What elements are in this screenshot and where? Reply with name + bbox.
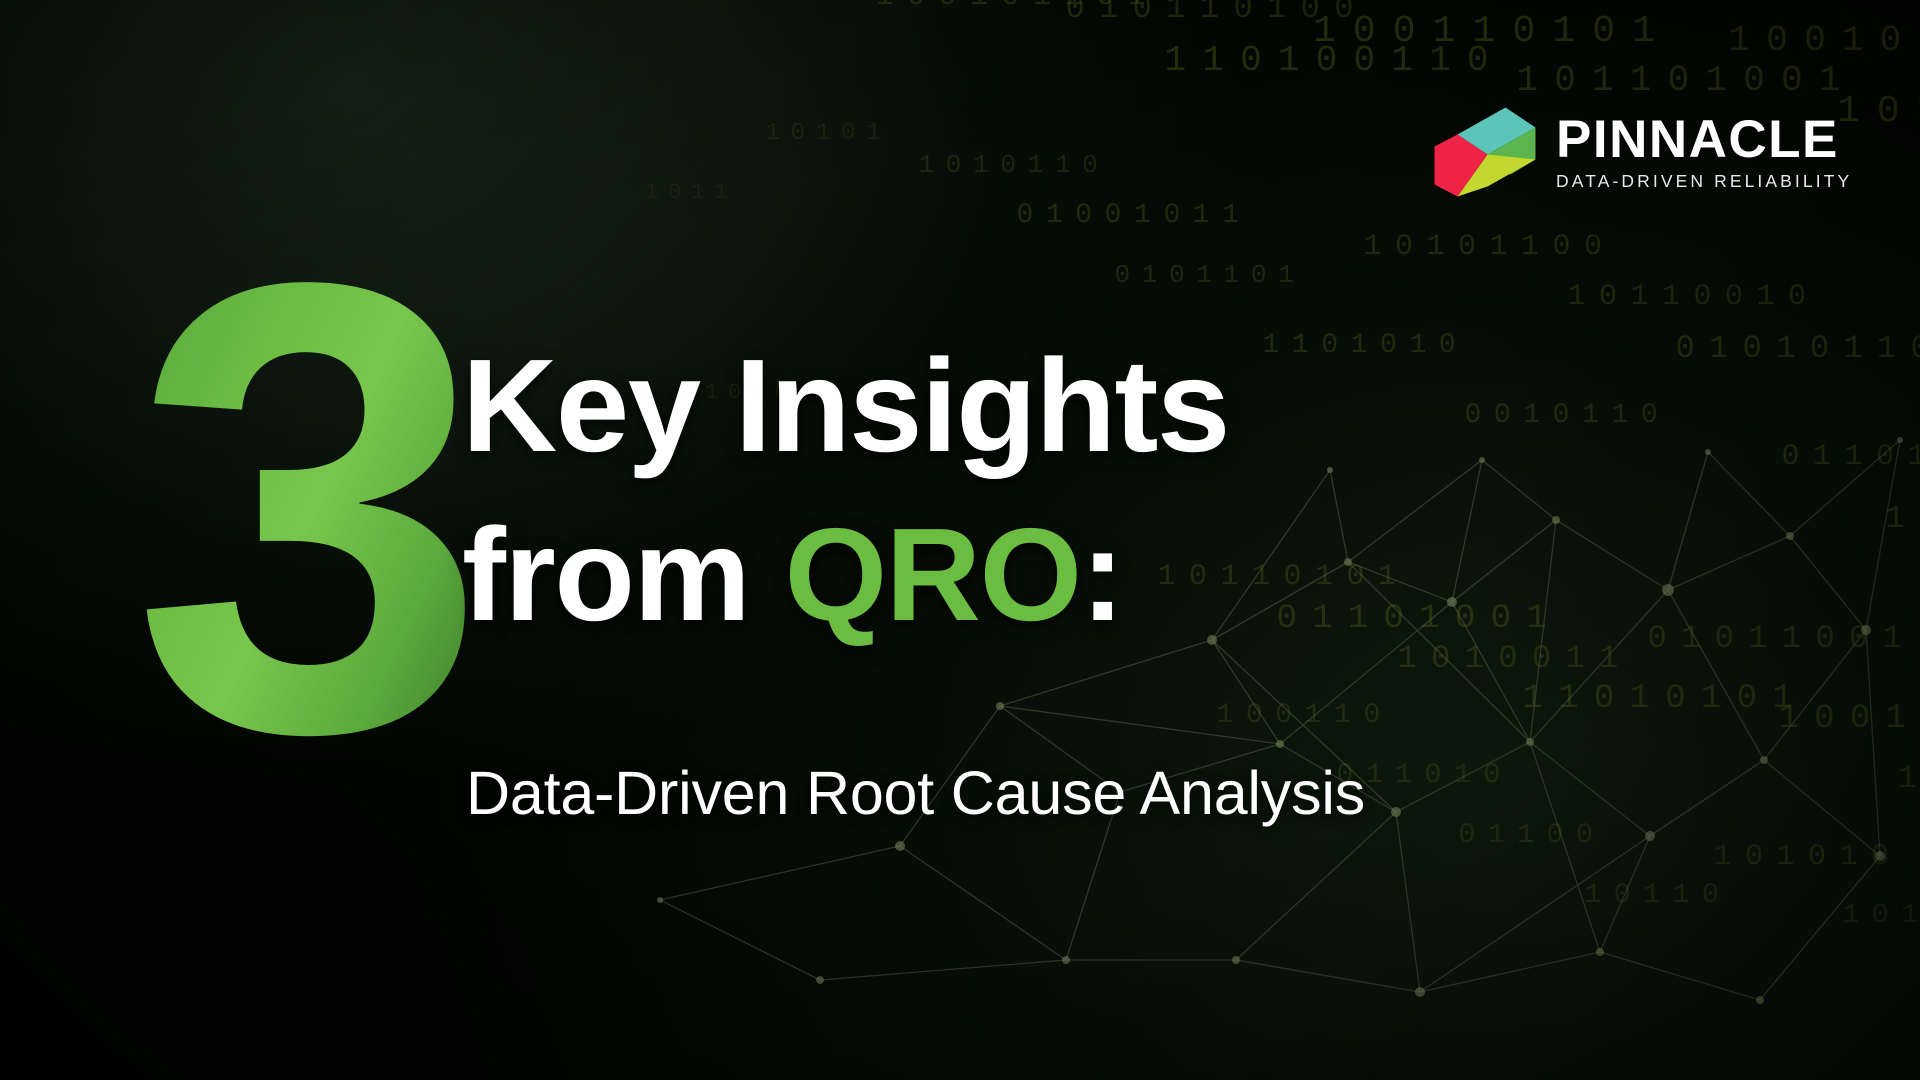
subtitle: Data-Driven Root Cause Analysis	[466, 760, 1365, 827]
headline-line-2-prefix: from	[462, 501, 785, 648]
logo-lockup-text: PINNACLE DATA-DRIVEN RELIABILITY	[1556, 113, 1852, 191]
headline-line-1: Key Insights	[462, 322, 1642, 491]
brand-tagline: DATA-DRIVEN RELIABILITY	[1556, 173, 1852, 191]
promo-slide: 1 0 1 1 0 1 0 0 10 1 1 0 1 0 10 1 0 1 1 …	[0, 0, 1920, 1080]
headline-colon: :	[1081, 501, 1123, 648]
brand-name: PINNACLE	[1556, 113, 1852, 166]
pinnacle-chevron-logo-icon	[1432, 98, 1536, 206]
headline-line-2: from QRO:	[462, 491, 1642, 660]
pinnacle-logo[interactable]: PINNACLE DATA-DRIVEN RELIABILITY	[1432, 98, 1852, 206]
headline-accent-qro: QRO	[785, 501, 1081, 648]
headline-block: Key Insights from QRO:	[462, 322, 1642, 660]
headline-numeral: 3	[132, 258, 474, 757]
